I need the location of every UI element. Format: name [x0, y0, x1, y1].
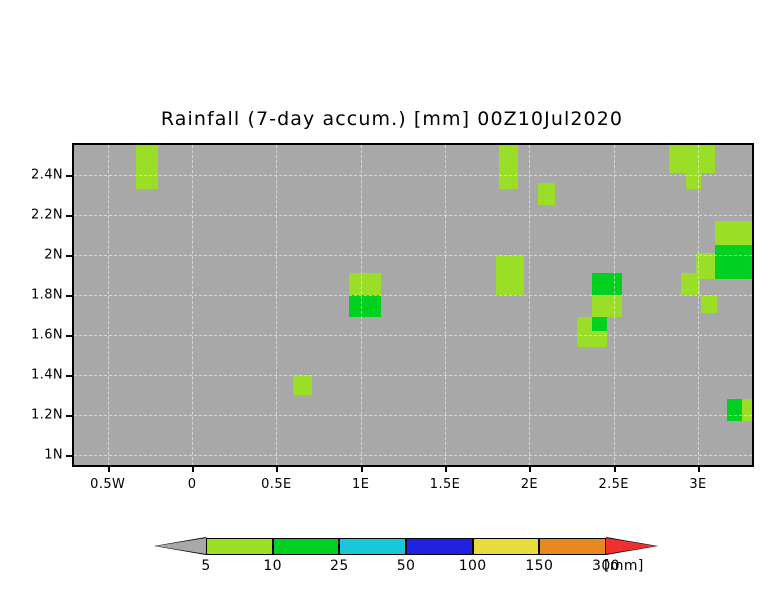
x-tick-mark [108, 465, 110, 472]
gridline-horizontal [74, 335, 752, 336]
gridline-horizontal [74, 215, 752, 216]
colorbar-segment[interactable] [406, 538, 473, 555]
heatmap-cell [577, 331, 607, 347]
gridline-vertical [276, 145, 277, 465]
x-tick-label: 3E [689, 477, 706, 492]
heatmap-cell [715, 221, 752, 247]
page-title: Rainfall (7-day accum.) [mm] 00Z10Jul202… [0, 108, 784, 130]
gridline-horizontal [74, 415, 752, 416]
y-tick-label: 1.2N [31, 408, 63, 423]
x-tick-label: 2E [521, 477, 538, 492]
x-tick-label: 0.5W [90, 477, 125, 492]
heatmap-cell [592, 273, 622, 295]
gridline-horizontal [74, 255, 752, 256]
x-tick-mark [614, 465, 616, 472]
gridline-vertical [529, 145, 530, 465]
heatmap-cell [681, 273, 700, 295]
heatmap-canvas [74, 145, 752, 465]
heatmap-cell [496, 255, 525, 295]
colorbar-segment[interactable] [539, 538, 606, 555]
x-tick-label: 0.5E [261, 477, 292, 492]
colorbar-tick-label: 25 [330, 558, 349, 574]
x-tick-label: 0 [188, 477, 197, 492]
colorbar-tick-label: 100 [459, 558, 487, 574]
y-tick-mark [66, 335, 73, 337]
x-tick-label: 1.5E [430, 477, 461, 492]
heatmap-cell [349, 273, 381, 295]
colorbar-tick-label: 150 [525, 558, 553, 574]
y-tick-mark [66, 295, 73, 297]
y-tick-mark [66, 175, 73, 177]
y-tick-mark [66, 215, 73, 217]
y-tick-label: 1.8N [31, 288, 63, 303]
heatmap-cell [742, 399, 752, 421]
y-tick-label: 2N [44, 248, 63, 263]
heatmap-cell [293, 375, 312, 395]
colorbar-segment[interactable] [473, 538, 540, 555]
colorbar-unit-label: [mm] [604, 558, 644, 574]
gridline-horizontal [74, 375, 752, 376]
colorbar-segment[interactable] [339, 538, 406, 555]
rainfall-map-plot: 2.4N2.2N2N1.8N1.6N1.4N1.2N1N 0.5W00.5E1E… [72, 143, 754, 467]
heatmap-cell [349, 295, 381, 317]
colorbar-segment[interactable] [206, 538, 273, 555]
colorbar-underflow-arrow [156, 538, 206, 554]
colorbar-legend[interactable]: 5102550100150300 [156, 538, 656, 555]
gridline-vertical [698, 145, 699, 465]
gridline-vertical [192, 145, 193, 465]
y-tick-mark [66, 455, 73, 457]
x-tick-mark [361, 465, 363, 472]
heatmap-cell [727, 399, 742, 421]
x-tick-label: 1E [352, 477, 369, 492]
y-tick-mark [66, 375, 73, 377]
x-tick-mark [698, 465, 700, 472]
x-tick-mark [445, 465, 447, 472]
y-tick-mark [66, 255, 73, 257]
y-tick-label: 1.4N [31, 368, 63, 383]
heatmap-cell [538, 183, 555, 205]
heatmap-cell [701, 295, 716, 313]
heatmap-cell [686, 169, 701, 189]
colorbar-overflow-arrow [606, 538, 656, 554]
gridline-horizontal [74, 295, 752, 296]
colorbar-segment[interactable] [273, 538, 340, 555]
colorbar-tick-label: 10 [263, 558, 282, 574]
gridline-horizontal [74, 175, 752, 176]
x-tick-mark [192, 465, 194, 472]
heatmap-cell [136, 145, 158, 189]
x-tick-mark [276, 465, 278, 472]
gridline-vertical [108, 145, 109, 465]
y-tick-label: 2.4N [31, 168, 63, 183]
y-tick-mark [66, 415, 73, 417]
heatmap-cell [715, 245, 752, 279]
heatmap-cell [499, 145, 518, 189]
y-tick-label: 2.2N [31, 208, 63, 223]
x-tick-label: 2.5E [598, 477, 629, 492]
y-tick-label: 1.6N [31, 328, 63, 343]
gridline-vertical [445, 145, 446, 465]
gridline-horizontal [74, 455, 752, 456]
heatmap-cell [592, 295, 622, 317]
colorbar-tick-label: 5 [201, 558, 210, 574]
y-tick-label: 1N [44, 448, 63, 463]
x-tick-mark [529, 465, 531, 472]
colorbar-tick-label: 50 [397, 558, 416, 574]
